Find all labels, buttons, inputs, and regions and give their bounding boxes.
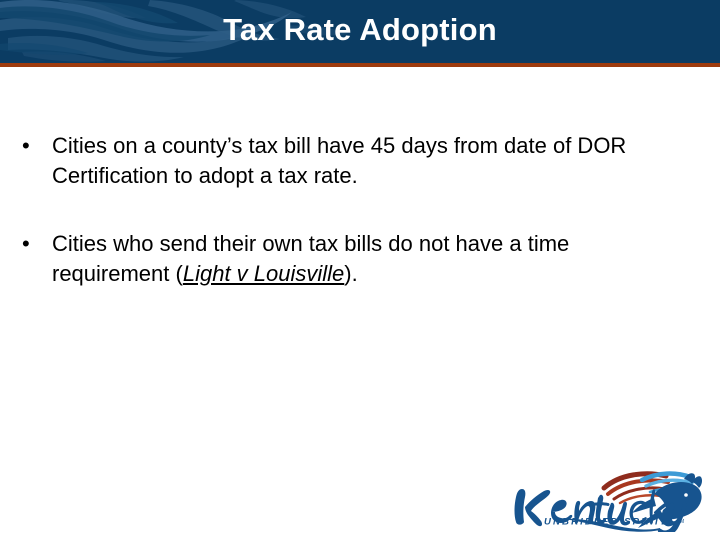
bullet-marker-icon: • [22, 229, 40, 259]
slide: Tax Rate Adoption • Cities on a county’s… [0, 0, 720, 540]
banner-accent-rule [0, 63, 720, 67]
kentucky-unbridled-spirit-logo: UNBRIDLED SPIRIT TM [508, 470, 704, 532]
bullet-text: Cities who send their own tax bills do n… [52, 229, 690, 289]
case-citation: Light v Louisville [183, 261, 344, 286]
page-title: Tax Rate Adoption [0, 0, 720, 63]
logo-tagline-text: UNBRIDLED SPIRIT [544, 517, 668, 528]
bullet-marker-icon: • [22, 131, 40, 161]
bullet-text-tail: ). [344, 261, 357, 286]
list-item: • Cities on a county’s tax bill have 45 … [18, 131, 690, 191]
bullet-text: Cities on a county’s tax bill have 45 da… [52, 131, 690, 191]
bullet-list: • Cities on a county’s tax bill have 45 … [18, 131, 690, 289]
logo-trademark-text: TM [677, 519, 684, 525]
title-banner: Tax Rate Adoption [0, 0, 720, 63]
list-item: • Cities who send their own tax bills do… [18, 229, 690, 289]
